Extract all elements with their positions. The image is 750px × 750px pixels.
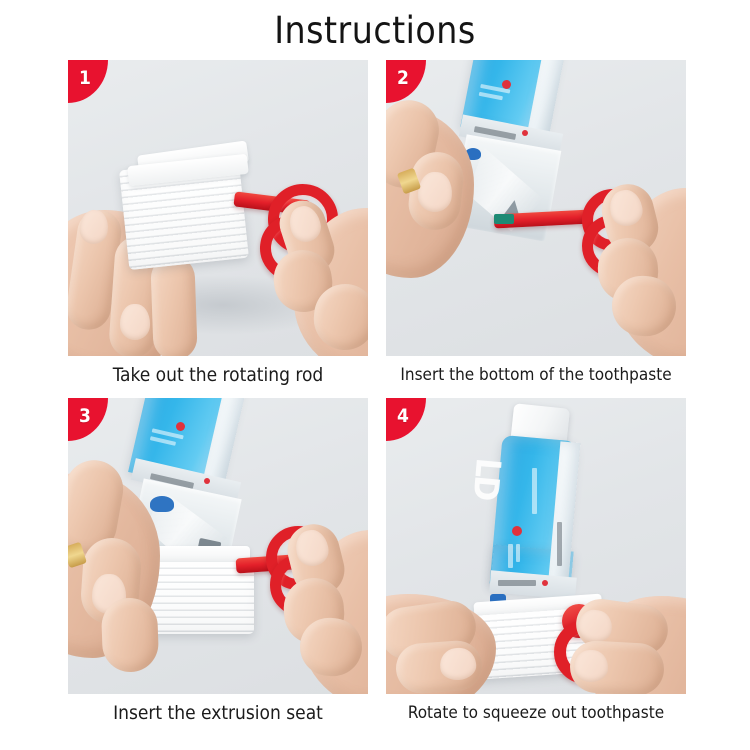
step-card-3: Insert the extrusion seat 3 xyxy=(68,398,368,728)
tube-text-line xyxy=(150,436,176,446)
tube-brand-logo: LD xyxy=(465,457,508,501)
page-title: Instructions xyxy=(0,8,750,54)
tube-text-line xyxy=(516,544,520,562)
step-card-4: LD xyxy=(386,398,686,728)
step-card-1: Take out the rotating rod 1 xyxy=(68,60,368,390)
tube-band-dot xyxy=(542,580,548,586)
tube-blue-mark xyxy=(150,496,174,512)
tube-text-line xyxy=(508,544,513,568)
tube-side-text xyxy=(557,522,562,566)
rod-tip xyxy=(494,214,514,224)
tube-logo-dot xyxy=(502,80,511,89)
step-caption-4: Rotate to squeeze out toothpaste xyxy=(386,694,686,728)
instructions-page: Instructions xyxy=(0,0,750,750)
left-ring-finger xyxy=(150,255,198,356)
step-card-2: Insert the bottom of the toothpaste 2 xyxy=(386,60,686,390)
tube-text-line xyxy=(532,468,537,514)
step-caption-1: Take out the rotating rod xyxy=(68,356,368,390)
step-caption-2: Insert the bottom of the toothpaste xyxy=(386,356,686,390)
steps-grid: Take out the rotating rod 1 xyxy=(68,60,686,735)
tube-logo-dot xyxy=(512,526,522,536)
step-photo-4: LD xyxy=(386,398,686,694)
left-thumb xyxy=(101,597,160,673)
tube-text-line xyxy=(479,92,503,101)
right-thumb-nail xyxy=(574,650,608,682)
step-photo-1 xyxy=(68,60,368,356)
tube-logo-dot xyxy=(176,422,185,431)
step-caption-3: Insert the extrusion seat xyxy=(68,694,368,728)
tube-band-dot xyxy=(522,130,528,136)
step-photo-2 xyxy=(386,60,686,356)
step-photo-3 xyxy=(68,398,368,694)
left-middle-nail xyxy=(120,304,150,340)
tube-band-text xyxy=(498,580,536,586)
tube-band-dot xyxy=(204,478,210,484)
